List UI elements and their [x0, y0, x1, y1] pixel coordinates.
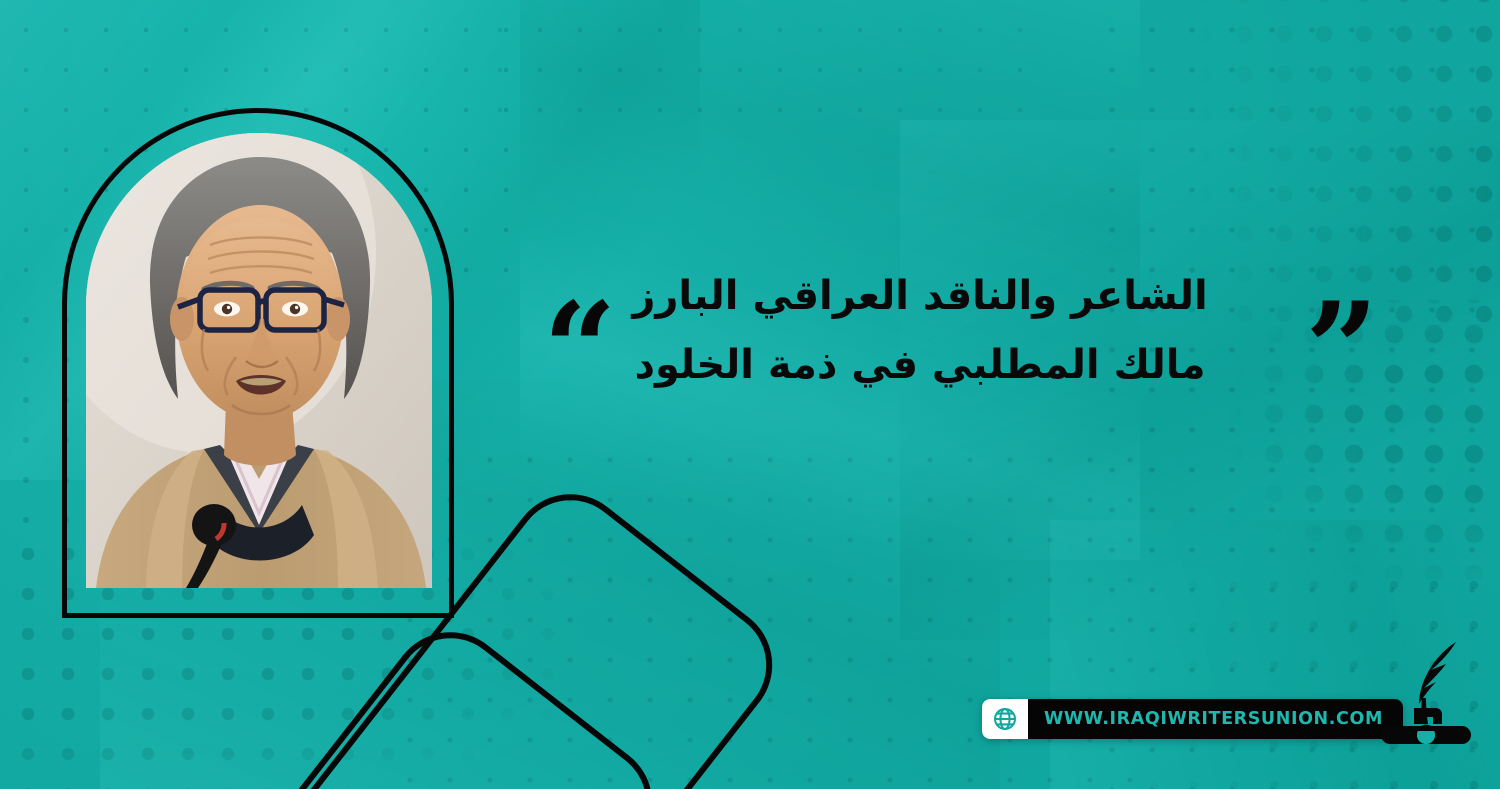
portrait-photo	[86, 133, 432, 588]
headline-line-2: مالك المطلبي في ذمة الخلود	[600, 331, 1240, 400]
quill-pen-logo-icon	[1378, 636, 1474, 748]
website-badge[interactable]: WWW.IRAQIWRITERSUNION.COM	[982, 699, 1403, 739]
headline: الشاعر والناقد العراقي البارز مالك المطل…	[600, 262, 1240, 400]
closing-quote-icon: ”	[1305, 286, 1379, 414]
globe-icon	[982, 699, 1028, 739]
headline-line-1: الشاعر والناقد العراقي البارز	[600, 262, 1240, 331]
banner-canvas: “ ” الشاعر والناقد العراقي البارز مالك ا…	[0, 0, 1500, 789]
website-url-text: WWW.IRAQIWRITERSUNION.COM	[1028, 699, 1403, 739]
